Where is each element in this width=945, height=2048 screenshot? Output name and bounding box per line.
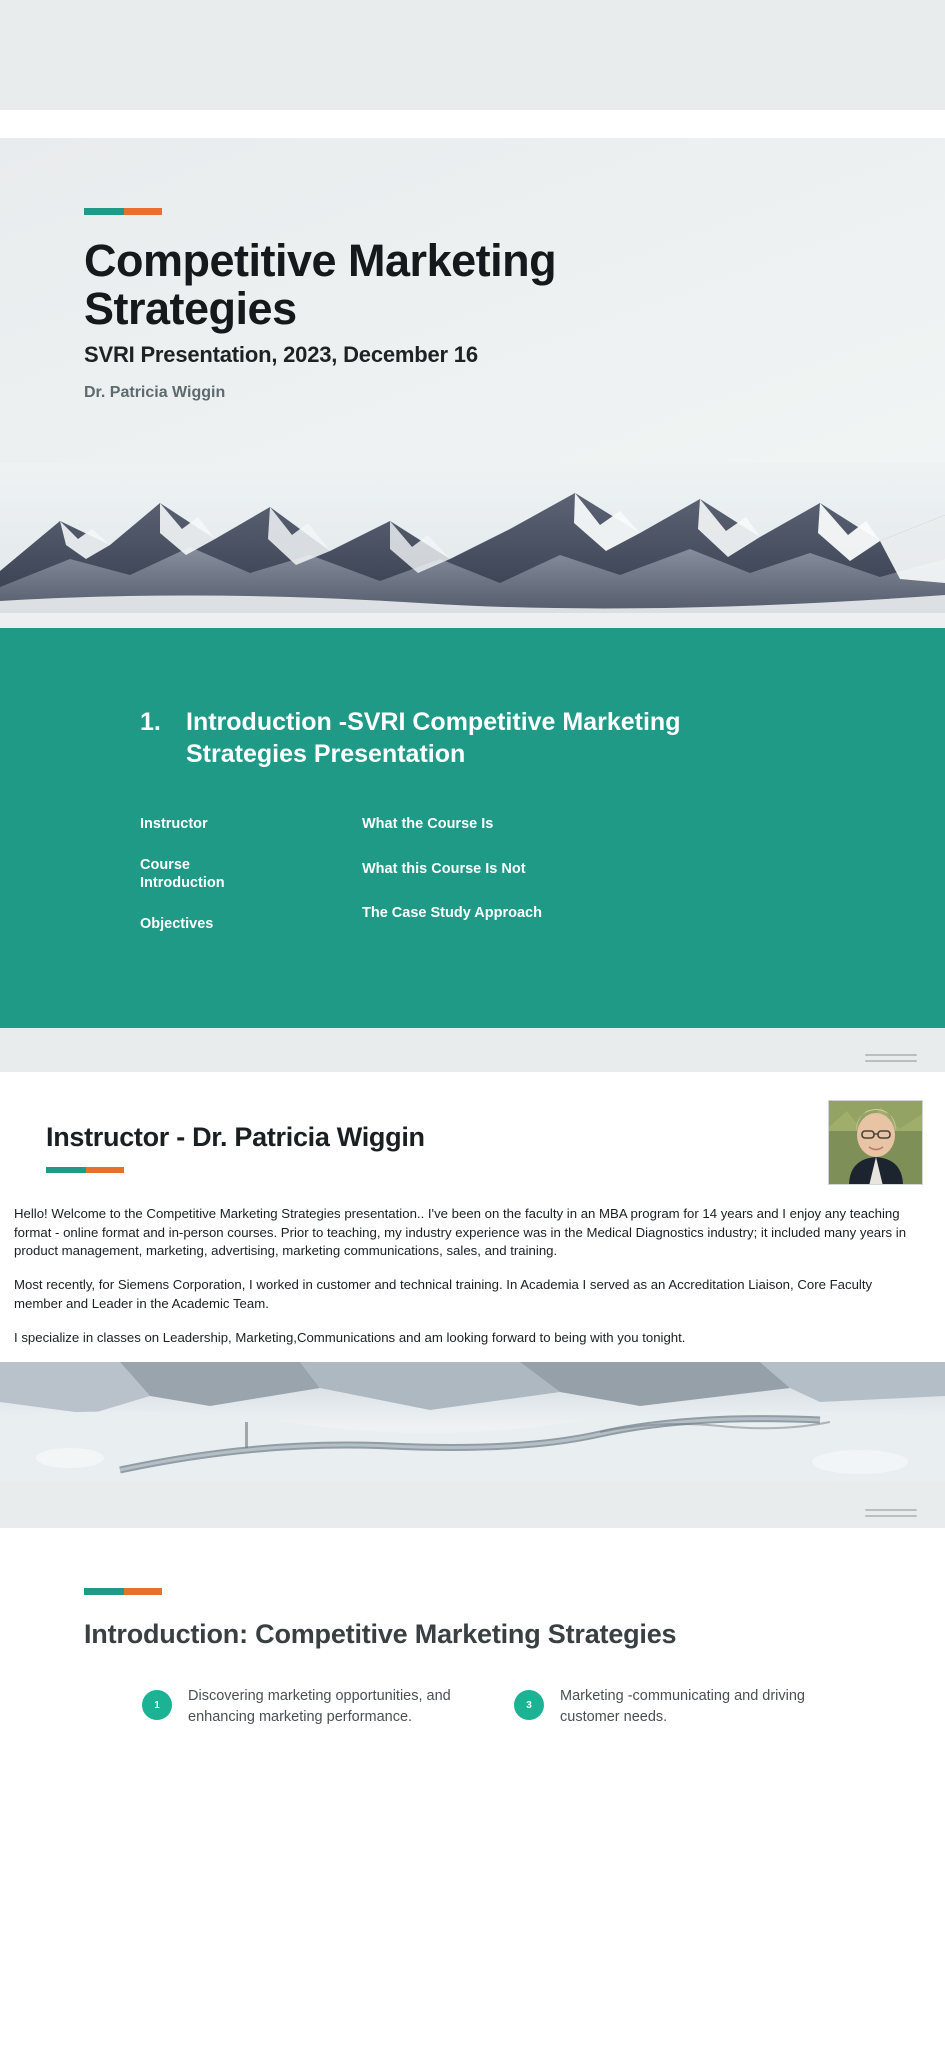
accent-rule-icon [46,1167,124,1173]
agenda-heading: Introduction -SVRI Competitive Marketing… [186,706,746,770]
instructor-paragraph-1: Hello! Welcome to the Competitive Market… [14,1205,923,1261]
slide-introduction[interactable]: Introduction: Competitive Marketing Stra… [0,1528,945,1727]
drag-handle-icon[interactable] [865,1054,917,1062]
page-title: Competitive Marketing Strategies [84,237,724,332]
slide-gap-2 [0,1482,945,1498]
slide-agenda[interactable]: 1. Introduction -SVRI Competitive Market… [0,628,945,1028]
top-scroll-gap [0,0,945,110]
bullet-text: Discovering marketing opportunities, and… [188,1686,472,1727]
list-item[interactable]: 1 Discovering marketing opportunities, a… [142,1686,472,1727]
bullet-text: Marketing -communicating and driving cus… [560,1686,844,1727]
title-author: Dr. Patricia Wiggin [84,384,945,402]
slide-title[interactable]: Competitive Marketing Strategies SVRI Pr… [0,138,945,628]
title-subtitle: SVRI Presentation, 2023, December 16 [84,342,945,368]
slide-instructor[interactable]: Instructor - Dr. Patricia Wiggin Hello! … [0,1072,945,1482]
instructor-heading: Instructor - Dr. Patricia Wiggin [46,1122,828,1153]
agenda-column-left: Instructor Course Introduction Objective… [140,815,362,955]
instructor-paragraph-3: I specialize in classes on Leadership, M… [14,1329,923,1348]
agenda-column-right: What the Course Is What this Course Is N… [362,815,662,955]
agenda-item-what-this-course-is-not[interactable]: What this Course Is Not [362,860,662,879]
resize-handle-row-2[interactable] [0,1498,945,1528]
agenda-item-course-introduction[interactable]: Course Introduction [140,856,250,893]
instructor-header: Instructor - Dr. Patricia Wiggin [0,1100,945,1185]
instructor-header-text: Instructor - Dr. Patricia Wiggin [46,1100,828,1173]
bullet-number-badge: 3 [514,1690,544,1720]
instructor-paragraph-2: Most recently, for Siemens Corporation, … [14,1276,923,1313]
agenda-item-case-study-approach[interactable]: The Case Study Approach [362,904,662,923]
agenda-heading-row: 1. Introduction -SVRI Competitive Market… [0,706,945,770]
mountain-photo [0,463,945,628]
bullet-number-badge: 1 [142,1690,172,1720]
agenda-number: 1. [140,706,186,770]
resize-handle-row-1[interactable] [0,1044,945,1072]
title-slide-content: Competitive Marketing Strategies SVRI Pr… [0,138,945,402]
list-item[interactable]: 3 Marketing -communicating and driving c… [514,1686,844,1727]
slide-gap-1 [0,1028,945,1044]
agenda-columns: Instructor Course Introduction Objective… [0,815,945,955]
avatar [828,1100,923,1185]
accent-rule-icon [84,208,162,215]
instructor-body: Hello! Welcome to the Competitive Market… [0,1185,945,1347]
drag-handle-icon[interactable] [865,1509,917,1517]
agenda-item-objectives[interactable]: Objectives [140,915,362,934]
accent-rule-icon [84,1588,162,1595]
introduction-heading: Introduction: Competitive Marketing Stra… [84,1619,945,1650]
agenda-item-instructor[interactable]: Instructor [140,815,362,834]
introduction-bullets: 1 Discovering marketing opportunities, a… [0,1686,945,1727]
agenda-item-what-the-course-is[interactable]: What the Course Is [362,815,662,834]
top-white-gap [0,110,945,138]
snow-road-photo [0,1362,945,1482]
